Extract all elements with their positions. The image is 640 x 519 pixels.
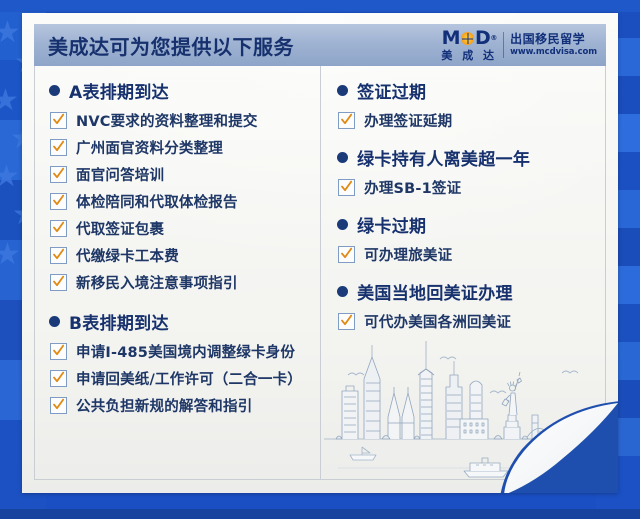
logo-website: www.mcdvisa.com: [510, 47, 597, 58]
checkmark-icon[interactable]: [50, 112, 67, 129]
group-title: 签证过期: [357, 78, 426, 103]
checkmark-icon[interactable]: [338, 179, 355, 196]
checkmark-icon[interactable]: [338, 112, 355, 129]
service-group-b: B表排期到达 申请I-485美国境内调整绿卡身份 申请回美纸/工作许可（二合一卡…: [49, 309, 310, 416]
checkmark-icon[interactable]: [50, 370, 67, 387]
service-item[interactable]: 体检陪同和代取体检报告: [50, 191, 310, 212]
checkmark-icon[interactable]: [50, 166, 67, 183]
group-heading: A表排期到达: [49, 78, 310, 103]
service-item[interactable]: NVC要求的资料整理和提交: [50, 110, 310, 131]
checkmark-icon[interactable]: [338, 246, 355, 263]
star-icon: ★: [0, 162, 20, 192]
bullet-dot-icon: [337, 219, 348, 230]
service-item-label: NVC要求的资料整理和提交: [76, 110, 258, 131]
service-item-label: 申请回美纸/工作许可（二合一卡）: [76, 368, 302, 389]
logo-wordmark: M D ®: [442, 29, 497, 48]
star-icon: ★: [0, 18, 21, 48]
service-item[interactable]: 公共负担新规的解答和指引: [50, 395, 310, 416]
globe-icon: [461, 32, 474, 45]
top-border-strip: [0, 0, 640, 12]
checkmark-icon[interactable]: [50, 397, 67, 414]
logo-tagline: 出国移民留学: [510, 32, 597, 47]
service-item-label: 可办理旅美证: [364, 244, 452, 265]
service-group-reentry-permit: 美国当地回美证办理 可代办美国各洲回美证: [337, 279, 595, 332]
service-item[interactable]: 可办理旅美证: [338, 244, 595, 265]
poster-background: ★ ★ ★ ★ ★ ★ ★ 美成达可为您提供以下服务 M D ® 美 成 达: [0, 0, 640, 519]
service-item-label: 广州面官资料分类整理: [76, 137, 223, 158]
service-item-label: 办理SB-1签证: [364, 177, 461, 198]
service-item-label: 面官问答培训: [76, 164, 164, 185]
service-group-abroad-over-year: 绿卡持有人离美超一年 办理SB-1签证: [337, 145, 595, 198]
service-item-label: 代取签证包裹: [76, 218, 164, 239]
service-item[interactable]: 面官问答培训: [50, 164, 310, 185]
service-item[interactable]: 办理SB-1签证: [338, 177, 595, 198]
checkmark-icon[interactable]: [50, 274, 67, 291]
trademark-icon: ®: [490, 35, 497, 42]
logo-letter-d: D: [475, 29, 490, 48]
checkmark-icon[interactable]: [50, 247, 67, 264]
service-item-label: 代缴绿卡工本费: [76, 245, 179, 266]
group-heading: 美国当地回美证办理: [337, 279, 595, 304]
checkmark-icon[interactable]: [338, 313, 355, 330]
star-icon: ★: [0, 240, 21, 270]
service-item[interactable]: 可代办美国各洲回美证: [338, 311, 595, 332]
bullet-dot-icon: [49, 85, 60, 96]
group-title: 绿卡过期: [357, 212, 426, 237]
service-item-label: 新移民入境注意事项指引: [76, 272, 238, 293]
service-group-greencard-expired: 绿卡过期 可办理旅美证: [337, 212, 595, 265]
logo-letter-m: M: [442, 29, 460, 48]
service-item-label: 体检陪同和代取体检报告: [76, 191, 238, 212]
checkmark-icon[interactable]: [50, 193, 67, 210]
logo-mark: M D ® 美 成 达: [441, 29, 497, 61]
service-item[interactable]: 广州面官资料分类整理: [50, 137, 310, 158]
group-title: 绿卡持有人离美超一年: [357, 145, 530, 170]
group-heading: 绿卡持有人离美超一年: [337, 145, 595, 170]
service-item[interactable]: 代缴绿卡工本费: [50, 245, 310, 266]
service-item-label: 可代办美国各洲回美证: [364, 311, 511, 332]
group-title: B表排期到达: [69, 309, 169, 334]
bottom-border-strip: [0, 509, 640, 519]
right-column: 签证过期 办理签证延期 绿卡持有人离美超一年 办理SB-1签证: [321, 66, 605, 479]
logo-text-block: 出国移民留学 www.mcdvisa.com: [503, 32, 597, 58]
service-item[interactable]: 申请回美纸/工作许可（二合一卡）: [50, 368, 310, 389]
checkmark-icon[interactable]: [50, 220, 67, 237]
left-column: A表排期到达 NVC要求的资料整理和提交 广州面官资料分类整理 面官问答培训: [35, 66, 321, 479]
checkmark-icon[interactable]: [50, 343, 67, 360]
bullet-dot-icon: [337, 85, 348, 96]
checkmark-icon[interactable]: [50, 139, 67, 156]
group-title: A表排期到达: [69, 78, 169, 103]
service-item-label: 公共负担新规的解答和指引: [76, 395, 252, 416]
service-item[interactable]: 新移民入境注意事项指引: [50, 272, 310, 293]
service-item-label: 申请I-485美国境内调整绿卡身份: [76, 341, 295, 362]
star-icon: ★: [0, 86, 19, 116]
service-group-visa-expired: 签证过期 办理签证延期: [337, 78, 595, 131]
bullet-dot-icon: [337, 286, 348, 297]
bullet-dot-icon: [337, 152, 348, 163]
service-item[interactable]: 申请I-485美国境内调整绿卡身份: [50, 341, 310, 362]
card-header: 美成达可为您提供以下服务 M D ® 美 成 达 出国移民留学 www.mcdv…: [34, 24, 606, 66]
group-title: 美国当地回美证办理: [357, 279, 513, 304]
services-content: A表排期到达 NVC要求的资料整理和提交 广州面官资料分类整理 面官问答培训: [34, 66, 606, 480]
group-heading: 签证过期: [337, 78, 595, 103]
bullet-dot-icon: [49, 316, 60, 327]
brand-logo: M D ® 美 成 达 出国移民留学 www.mcdvisa.com: [441, 29, 597, 61]
logo-chinese-name: 美 成 达: [441, 50, 497, 61]
service-item-label: 办理签证延期: [364, 110, 452, 131]
service-list-card: 美成达可为您提供以下服务 M D ® 美 成 达 出国移民留学 www.mcdv…: [22, 13, 618, 493]
service-item[interactable]: 办理签证延期: [338, 110, 595, 131]
page-title: 美成达可为您提供以下服务: [48, 31, 294, 60]
group-heading: 绿卡过期: [337, 212, 595, 237]
group-heading: B表排期到达: [49, 309, 310, 334]
service-group-a: A表排期到达 NVC要求的资料整理和提交 广州面官资料分类整理 面官问答培训: [49, 78, 310, 293]
service-item[interactable]: 代取签证包裹: [50, 218, 310, 239]
